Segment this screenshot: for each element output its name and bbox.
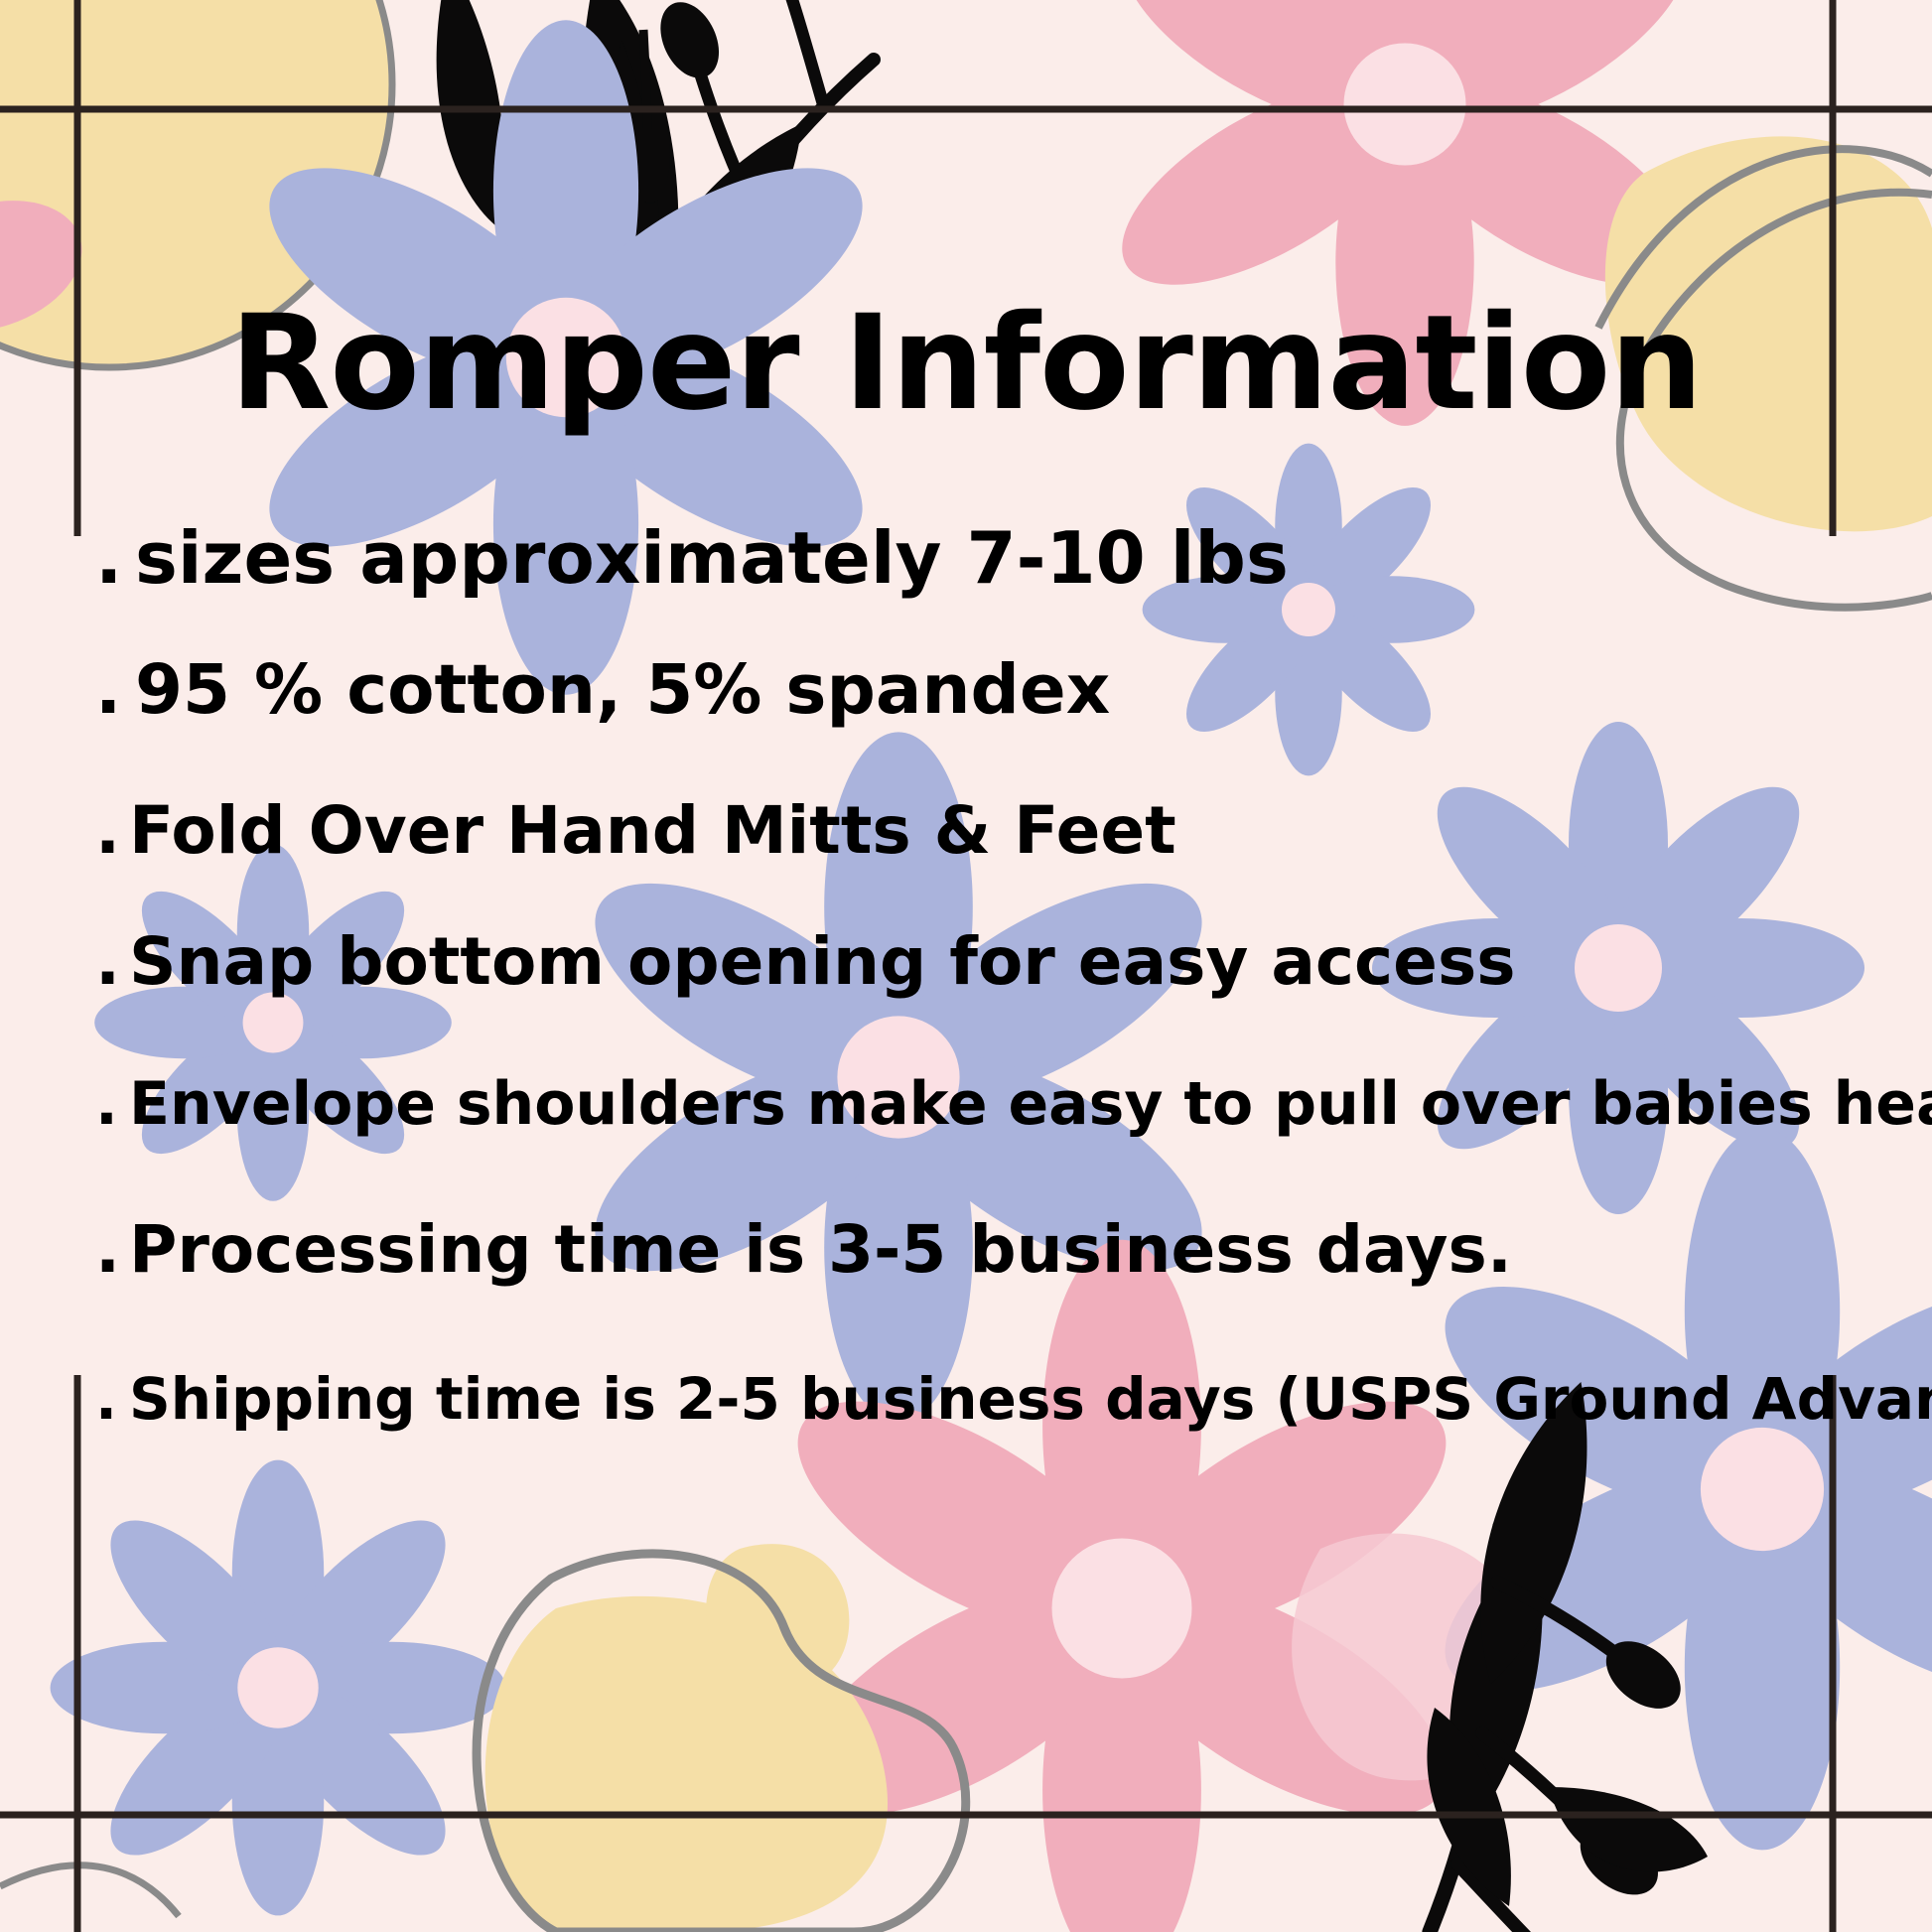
bullet-marker: . xyxy=(95,1069,129,1139)
bullet-marker: . xyxy=(95,923,129,1000)
bullet-marker: . xyxy=(95,516,135,600)
list-item-label: Envelope shoulders make easy to pull ove… xyxy=(129,1069,1932,1139)
bullet-marker: . xyxy=(95,792,129,869)
list-item-label: Shipping time is 2-5 business days (USPS… xyxy=(129,1365,1932,1433)
list-item: . sizes approximately 7-10 lbs xyxy=(95,516,1289,600)
poster-content: Romper Information . sizes approximately… xyxy=(0,0,1932,1932)
bullet-marker: . xyxy=(95,1365,129,1433)
list-item: . Envelope shoulders make easy to pull o… xyxy=(95,1069,1932,1139)
list-item: . Processing time is 3-5 business days. xyxy=(95,1211,1512,1288)
list-item: . Snap bottom opening for easy access xyxy=(95,923,1516,1000)
list-item-label: 95 % cotton, 5% spandex xyxy=(135,650,1110,730)
list-item-label: Fold Over Hand Mitts & Feet xyxy=(129,792,1176,869)
list-item: . Fold Over Hand Mitts & Feet xyxy=(95,792,1176,869)
romper-information-poster: Romper Information . sizes approximately… xyxy=(0,0,1932,1932)
page-title: Romper Information xyxy=(0,298,1932,429)
list-item: . Shipping time is 2-5 business days (US… xyxy=(95,1365,1932,1433)
bullet-marker: . xyxy=(95,1211,129,1288)
list-item-label: Snap bottom opening for easy access xyxy=(129,923,1516,1000)
list-item: . 95 % cotton, 5% spandex xyxy=(95,650,1110,730)
list-item-label: sizes approximately 7-10 lbs xyxy=(135,516,1289,600)
bullet-marker: . xyxy=(95,650,135,730)
list-item-label: Processing time is 3-5 business days. xyxy=(129,1211,1512,1288)
